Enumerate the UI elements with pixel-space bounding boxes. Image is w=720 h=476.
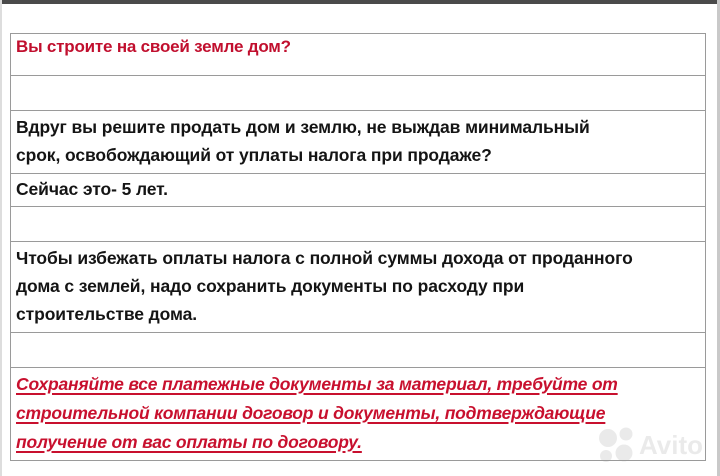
- table-row: [11, 206, 706, 241]
- scan-edge-left: [0, 0, 2, 476]
- advice-body-line-2: дома с землей, надо сохранить документы …: [16, 272, 700, 300]
- spacer-cell-1: [11, 76, 706, 111]
- spacer-cell-2: [11, 206, 706, 241]
- question-body-line-1: Вдруг вы решите продать дом и землю, не …: [16, 113, 700, 141]
- table-row: Вдруг вы решите продать дом и землю, не …: [11, 111, 706, 174]
- content-table: Вы строите на своей земле дом? Вдруг вы …: [10, 33, 706, 461]
- conclusion-cell: Сохраняйте все платежные документы за ма…: [11, 367, 706, 460]
- conclusion-line-1: Сохраняйте все платежные документы за ма…: [16, 370, 700, 399]
- question-body-cell: Вдруг вы решите продать дом и землю, не …: [11, 111, 706, 174]
- conclusion-line-3: получение от вас оплаты по договору.: [16, 428, 700, 457]
- question-heading-cell: Вы строите на своей земле дом?: [11, 34, 706, 76]
- table-row: Чтобы избежать оплаты налога с полной су…: [11, 241, 706, 332]
- scan-edge-top: [0, 0, 720, 4]
- document-page: Вы строите на своей земле дом? Вдруг вы …: [0, 0, 720, 476]
- table-row: [11, 332, 706, 367]
- table-row: Сохраняйте все платежные документы за ма…: [11, 367, 706, 460]
- conclusion-line-2: строительной компании договор и документ…: [16, 399, 700, 428]
- advice-body-line-1: Чтобы избежать оплаты налога с полной су…: [16, 244, 700, 272]
- table-row: Вы строите на своей земле дом?: [11, 34, 706, 76]
- question-body-line-2: срок, освобождающий от уплаты налога при…: [16, 141, 700, 169]
- advice-body-cell: Чтобы избежать оплаты налога с полной су…: [11, 241, 706, 332]
- spacer-cell-3: [11, 332, 706, 367]
- table-row: Сейчас это- 5 лет.: [11, 173, 706, 206]
- table-row: [11, 76, 706, 111]
- advice-body-line-3: строительстве дома.: [16, 300, 700, 328]
- term-note-text: Сейчас это- 5 лет.: [16, 179, 168, 199]
- term-note-cell: Сейчас это- 5 лет.: [11, 173, 706, 206]
- question-heading-text: Вы строите на своей земле дом?: [16, 37, 291, 56]
